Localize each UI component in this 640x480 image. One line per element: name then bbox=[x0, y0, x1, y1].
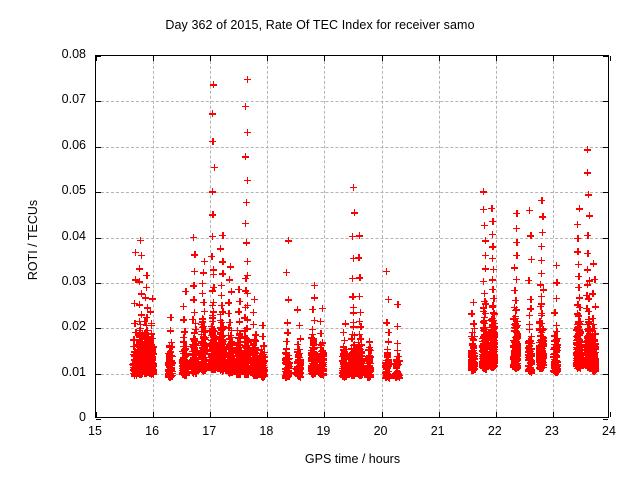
data-point bbox=[355, 254, 362, 261]
data-point bbox=[258, 371, 265, 378]
data-point bbox=[513, 210, 520, 217]
data-point bbox=[317, 318, 324, 325]
data-point bbox=[491, 323, 498, 330]
data-point bbox=[537, 332, 544, 339]
data-point bbox=[512, 320, 519, 327]
data-point bbox=[482, 265, 489, 272]
data-point bbox=[468, 363, 475, 370]
chart-canvas: Day 362 of 2015, Rate Of TEC Index for r… bbox=[0, 0, 640, 480]
data-point bbox=[244, 129, 251, 136]
data-point bbox=[382, 370, 389, 377]
data-point bbox=[574, 248, 581, 255]
data-point bbox=[490, 266, 497, 273]
data-point bbox=[575, 318, 582, 325]
y-tick-label: 0.03 bbox=[26, 274, 86, 288]
tick-mark-x bbox=[610, 412, 611, 417]
data-point bbox=[342, 320, 349, 327]
data-point bbox=[538, 300, 545, 307]
data-point bbox=[480, 308, 487, 315]
data-point bbox=[553, 337, 560, 344]
x-tick-label: 18 bbox=[246, 424, 286, 438]
data-point bbox=[251, 336, 258, 343]
y-tick-label: 0.02 bbox=[26, 319, 86, 333]
data-point bbox=[210, 299, 217, 306]
data-point bbox=[539, 213, 546, 220]
data-point bbox=[527, 232, 534, 239]
data-point bbox=[538, 197, 545, 204]
data-point bbox=[209, 188, 216, 195]
data-point bbox=[489, 286, 496, 293]
data-point bbox=[167, 314, 174, 321]
data-point bbox=[242, 153, 249, 160]
data-point bbox=[481, 317, 488, 324]
data-point bbox=[349, 233, 356, 240]
data-point bbox=[384, 346, 391, 353]
data-point bbox=[317, 344, 324, 351]
data-point bbox=[283, 338, 290, 345]
x-tick-label: 16 bbox=[132, 424, 172, 438]
data-point bbox=[138, 252, 145, 259]
data-point bbox=[574, 235, 581, 242]
data-point bbox=[244, 76, 251, 83]
data-point bbox=[311, 294, 318, 301]
data-point bbox=[575, 284, 582, 291]
data-point bbox=[250, 309, 257, 316]
data-point bbox=[357, 309, 364, 316]
x-tick-label: 23 bbox=[532, 424, 572, 438]
data-point bbox=[217, 245, 224, 252]
data-point bbox=[191, 335, 198, 342]
data-point bbox=[180, 316, 187, 323]
data-point bbox=[249, 366, 256, 373]
data-point bbox=[552, 359, 559, 366]
data-point bbox=[296, 350, 303, 357]
data-point bbox=[537, 365, 544, 372]
data-point bbox=[470, 299, 477, 306]
data-point bbox=[243, 199, 250, 206]
data-point bbox=[218, 282, 225, 289]
data-point bbox=[284, 329, 291, 336]
data-point bbox=[584, 232, 591, 239]
data-point bbox=[136, 265, 143, 272]
data-point bbox=[489, 218, 496, 225]
data-point bbox=[309, 306, 316, 313]
data-point bbox=[179, 363, 186, 370]
data-point bbox=[526, 365, 533, 372]
data-point bbox=[244, 272, 251, 279]
data-point bbox=[512, 327, 519, 334]
data-point bbox=[295, 356, 302, 363]
data-point bbox=[209, 110, 216, 117]
data-point bbox=[241, 342, 248, 349]
data-point bbox=[165, 368, 172, 375]
data-point bbox=[143, 272, 150, 279]
data-point bbox=[282, 356, 289, 363]
data-point bbox=[592, 303, 599, 310]
data-point bbox=[199, 280, 206, 287]
data-point bbox=[584, 250, 591, 257]
data-point bbox=[225, 310, 232, 317]
data-point bbox=[551, 309, 558, 316]
data-point bbox=[142, 294, 149, 301]
data-point bbox=[219, 258, 226, 265]
data-point bbox=[480, 324, 487, 331]
data-point bbox=[341, 337, 348, 344]
data-point bbox=[137, 237, 144, 244]
data-point bbox=[136, 301, 143, 308]
data-point bbox=[191, 309, 198, 316]
data-point bbox=[553, 262, 560, 269]
data-point bbox=[226, 367, 233, 374]
data-point bbox=[309, 369, 316, 376]
data-point bbox=[575, 261, 582, 268]
data-point bbox=[482, 252, 489, 259]
data-point bbox=[198, 321, 205, 328]
data-point bbox=[189, 316, 196, 323]
data-point bbox=[584, 146, 591, 153]
data-point bbox=[356, 274, 363, 281]
data-point bbox=[394, 347, 401, 354]
data-point bbox=[488, 364, 495, 371]
data-point bbox=[201, 308, 208, 315]
data-point bbox=[285, 296, 292, 303]
x-axis-label: GPS time / hours bbox=[95, 452, 610, 466]
data-point bbox=[479, 363, 486, 370]
data-point bbox=[250, 321, 257, 328]
y-tick-label: 0.08 bbox=[26, 47, 86, 61]
data-point bbox=[217, 317, 224, 324]
data-point bbox=[590, 321, 597, 328]
data-point bbox=[225, 324, 232, 331]
data-point bbox=[468, 333, 475, 340]
data-point bbox=[574, 221, 581, 228]
data-point bbox=[283, 269, 290, 276]
x-tick-label: 21 bbox=[418, 424, 458, 438]
data-point bbox=[592, 330, 599, 337]
data-point bbox=[226, 276, 233, 283]
data-point bbox=[538, 270, 545, 277]
data-point bbox=[167, 327, 174, 334]
data-point bbox=[512, 297, 519, 304]
data-point bbox=[488, 205, 495, 212]
data-point bbox=[480, 188, 487, 195]
y-tick-label: 0.01 bbox=[26, 365, 86, 379]
data-point bbox=[574, 325, 581, 332]
data-point bbox=[585, 191, 592, 198]
data-point bbox=[283, 345, 290, 352]
data-point bbox=[468, 310, 475, 317]
data-point bbox=[586, 212, 593, 219]
data-point bbox=[540, 353, 547, 360]
x-tick-label: 17 bbox=[189, 424, 229, 438]
data-point bbox=[526, 312, 533, 319]
data-point bbox=[340, 346, 347, 353]
data-point bbox=[149, 335, 156, 342]
data-point bbox=[512, 313, 519, 320]
data-point bbox=[395, 357, 402, 364]
data-point bbox=[491, 357, 498, 364]
data-point bbox=[217, 331, 224, 338]
data-point bbox=[513, 361, 520, 368]
data-point bbox=[147, 308, 154, 315]
data-point bbox=[489, 255, 496, 262]
data-point bbox=[209, 211, 216, 218]
data-point bbox=[201, 258, 208, 265]
data-point bbox=[364, 367, 371, 374]
data-point bbox=[482, 237, 489, 244]
data-point bbox=[383, 268, 390, 275]
data-point bbox=[258, 353, 265, 360]
data-point bbox=[481, 298, 488, 305]
x-tick-label: 24 bbox=[589, 424, 629, 438]
data-point bbox=[591, 276, 598, 283]
data-point bbox=[469, 340, 476, 347]
data-point bbox=[490, 317, 497, 324]
data-point bbox=[385, 296, 392, 303]
data-point bbox=[259, 365, 266, 372]
data-point bbox=[150, 366, 157, 373]
data-point bbox=[385, 338, 392, 345]
data-point bbox=[190, 296, 197, 303]
data-point bbox=[491, 310, 498, 317]
data-point bbox=[489, 231, 496, 238]
data-point bbox=[251, 296, 258, 303]
data-point bbox=[525, 277, 532, 284]
data-point bbox=[357, 349, 364, 356]
data-point bbox=[340, 329, 347, 336]
data-point bbox=[574, 360, 581, 367]
data-point bbox=[284, 319, 291, 326]
data-point bbox=[576, 294, 583, 301]
data-point bbox=[576, 205, 583, 212]
data-point bbox=[553, 295, 560, 302]
data-point bbox=[526, 342, 533, 349]
data-point bbox=[349, 275, 356, 282]
x-tick-label: 15 bbox=[75, 424, 115, 438]
data-point bbox=[539, 229, 546, 236]
data-point bbox=[513, 239, 520, 246]
data-point bbox=[148, 320, 155, 327]
data-point bbox=[489, 302, 496, 309]
data-point bbox=[242, 220, 249, 227]
data-point bbox=[311, 282, 318, 289]
data-point bbox=[294, 306, 301, 313]
data-point bbox=[350, 184, 357, 191]
data-point bbox=[574, 310, 581, 317]
data-point bbox=[511, 304, 518, 311]
data-point bbox=[511, 287, 518, 294]
data-point bbox=[166, 343, 173, 350]
data-point bbox=[235, 286, 242, 293]
data-point bbox=[366, 355, 373, 362]
data-point bbox=[553, 328, 560, 335]
data-point bbox=[208, 253, 215, 260]
data-point bbox=[285, 237, 292, 244]
y-tick-label: 0 bbox=[26, 410, 86, 424]
data-point bbox=[258, 346, 265, 353]
data-point bbox=[244, 302, 251, 309]
data-point bbox=[191, 268, 198, 275]
data-point bbox=[396, 374, 403, 381]
data-point bbox=[209, 138, 216, 145]
tick-mark-y bbox=[603, 419, 608, 420]
data-point bbox=[199, 290, 206, 297]
data-point bbox=[309, 331, 316, 338]
data-point bbox=[259, 322, 266, 329]
tick-mark-x bbox=[610, 56, 611, 61]
data-point bbox=[383, 319, 390, 326]
data-point bbox=[366, 338, 373, 345]
data-point bbox=[209, 233, 216, 240]
data-point bbox=[394, 323, 401, 330]
data-point bbox=[285, 368, 292, 375]
y-tick-label: 0.07 bbox=[26, 92, 86, 106]
data-point bbox=[143, 284, 150, 291]
data-point bbox=[148, 342, 155, 349]
data-point bbox=[227, 263, 234, 270]
data-point bbox=[583, 305, 590, 312]
data-point bbox=[356, 293, 363, 300]
data-point bbox=[526, 207, 533, 214]
data-point bbox=[528, 333, 535, 340]
tick-mark-y bbox=[96, 419, 101, 420]
data-point bbox=[513, 225, 520, 232]
scatter-points bbox=[96, 56, 610, 419]
data-point bbox=[180, 303, 187, 310]
data-point bbox=[526, 321, 533, 328]
data-point bbox=[511, 264, 518, 271]
y-tick-label: 0.04 bbox=[26, 229, 86, 243]
data-point bbox=[575, 273, 582, 280]
data-point bbox=[553, 279, 560, 286]
data-point bbox=[217, 324, 224, 331]
data-point bbox=[182, 288, 189, 295]
data-point bbox=[210, 81, 217, 88]
chart-title: Day 362 of 2015, Rate Of TEC Index for r… bbox=[0, 18, 640, 32]
data-point bbox=[489, 276, 496, 283]
data-point bbox=[295, 368, 302, 375]
data-point bbox=[225, 299, 232, 306]
data-point bbox=[589, 290, 596, 297]
data-point bbox=[180, 343, 187, 350]
data-point bbox=[259, 333, 266, 340]
data-point bbox=[244, 177, 251, 184]
data-point bbox=[480, 278, 487, 285]
data-point bbox=[296, 322, 303, 329]
y-tick-label: 0.05 bbox=[26, 183, 86, 197]
data-point bbox=[356, 331, 363, 338]
data-point bbox=[538, 257, 545, 264]
data-point bbox=[218, 292, 225, 299]
x-tick-label: 20 bbox=[361, 424, 401, 438]
data-point bbox=[190, 282, 197, 289]
data-point bbox=[219, 232, 226, 239]
data-point bbox=[592, 361, 599, 368]
data-point bbox=[190, 234, 197, 241]
data-point bbox=[470, 320, 477, 327]
data-point bbox=[481, 222, 488, 229]
data-point bbox=[574, 301, 581, 308]
data-point bbox=[385, 329, 392, 336]
data-point bbox=[200, 299, 207, 306]
data-point bbox=[584, 169, 591, 176]
data-point bbox=[538, 293, 545, 300]
data-point bbox=[244, 258, 251, 265]
data-point bbox=[243, 239, 250, 246]
data-point bbox=[191, 251, 198, 258]
data-point bbox=[538, 243, 545, 250]
data-point bbox=[513, 276, 520, 283]
x-tick-label: 22 bbox=[475, 424, 515, 438]
data-point bbox=[489, 243, 496, 250]
data-point bbox=[210, 266, 217, 273]
data-point bbox=[538, 310, 545, 317]
data-point bbox=[210, 284, 217, 291]
data-point bbox=[318, 350, 325, 357]
plot-frame bbox=[95, 55, 609, 418]
data-point bbox=[242, 287, 249, 294]
data-point bbox=[590, 260, 597, 267]
data-point bbox=[394, 301, 401, 308]
data-point bbox=[528, 256, 535, 263]
data-point bbox=[527, 305, 534, 312]
data-point bbox=[536, 318, 543, 325]
data-point bbox=[211, 164, 218, 171]
data-point bbox=[208, 323, 215, 330]
data-point bbox=[591, 338, 598, 345]
data-point bbox=[383, 357, 390, 364]
data-point bbox=[537, 281, 544, 288]
data-point bbox=[551, 344, 558, 351]
data-point bbox=[241, 314, 248, 321]
data-point bbox=[525, 348, 532, 355]
y-tick-label: 0.06 bbox=[26, 138, 86, 152]
data-point bbox=[319, 305, 326, 312]
data-point bbox=[356, 318, 363, 325]
data-point bbox=[317, 330, 324, 337]
data-point bbox=[351, 209, 358, 216]
data-point bbox=[527, 296, 534, 303]
data-point bbox=[166, 351, 173, 358]
data-point bbox=[356, 232, 363, 239]
data-point bbox=[294, 341, 301, 348]
data-point bbox=[551, 368, 558, 375]
data-point bbox=[513, 252, 520, 259]
data-point bbox=[490, 349, 497, 356]
x-tick-label: 19 bbox=[303, 424, 343, 438]
data-point bbox=[233, 370, 240, 377]
data-point bbox=[209, 312, 216, 319]
data-point bbox=[180, 334, 187, 341]
data-point bbox=[481, 290, 488, 297]
data-point bbox=[480, 206, 487, 213]
data-point bbox=[366, 346, 373, 353]
data-point bbox=[149, 295, 156, 302]
data-point bbox=[200, 269, 207, 276]
data-point bbox=[228, 288, 235, 295]
data-point bbox=[242, 103, 249, 110]
data-point bbox=[536, 325, 543, 332]
